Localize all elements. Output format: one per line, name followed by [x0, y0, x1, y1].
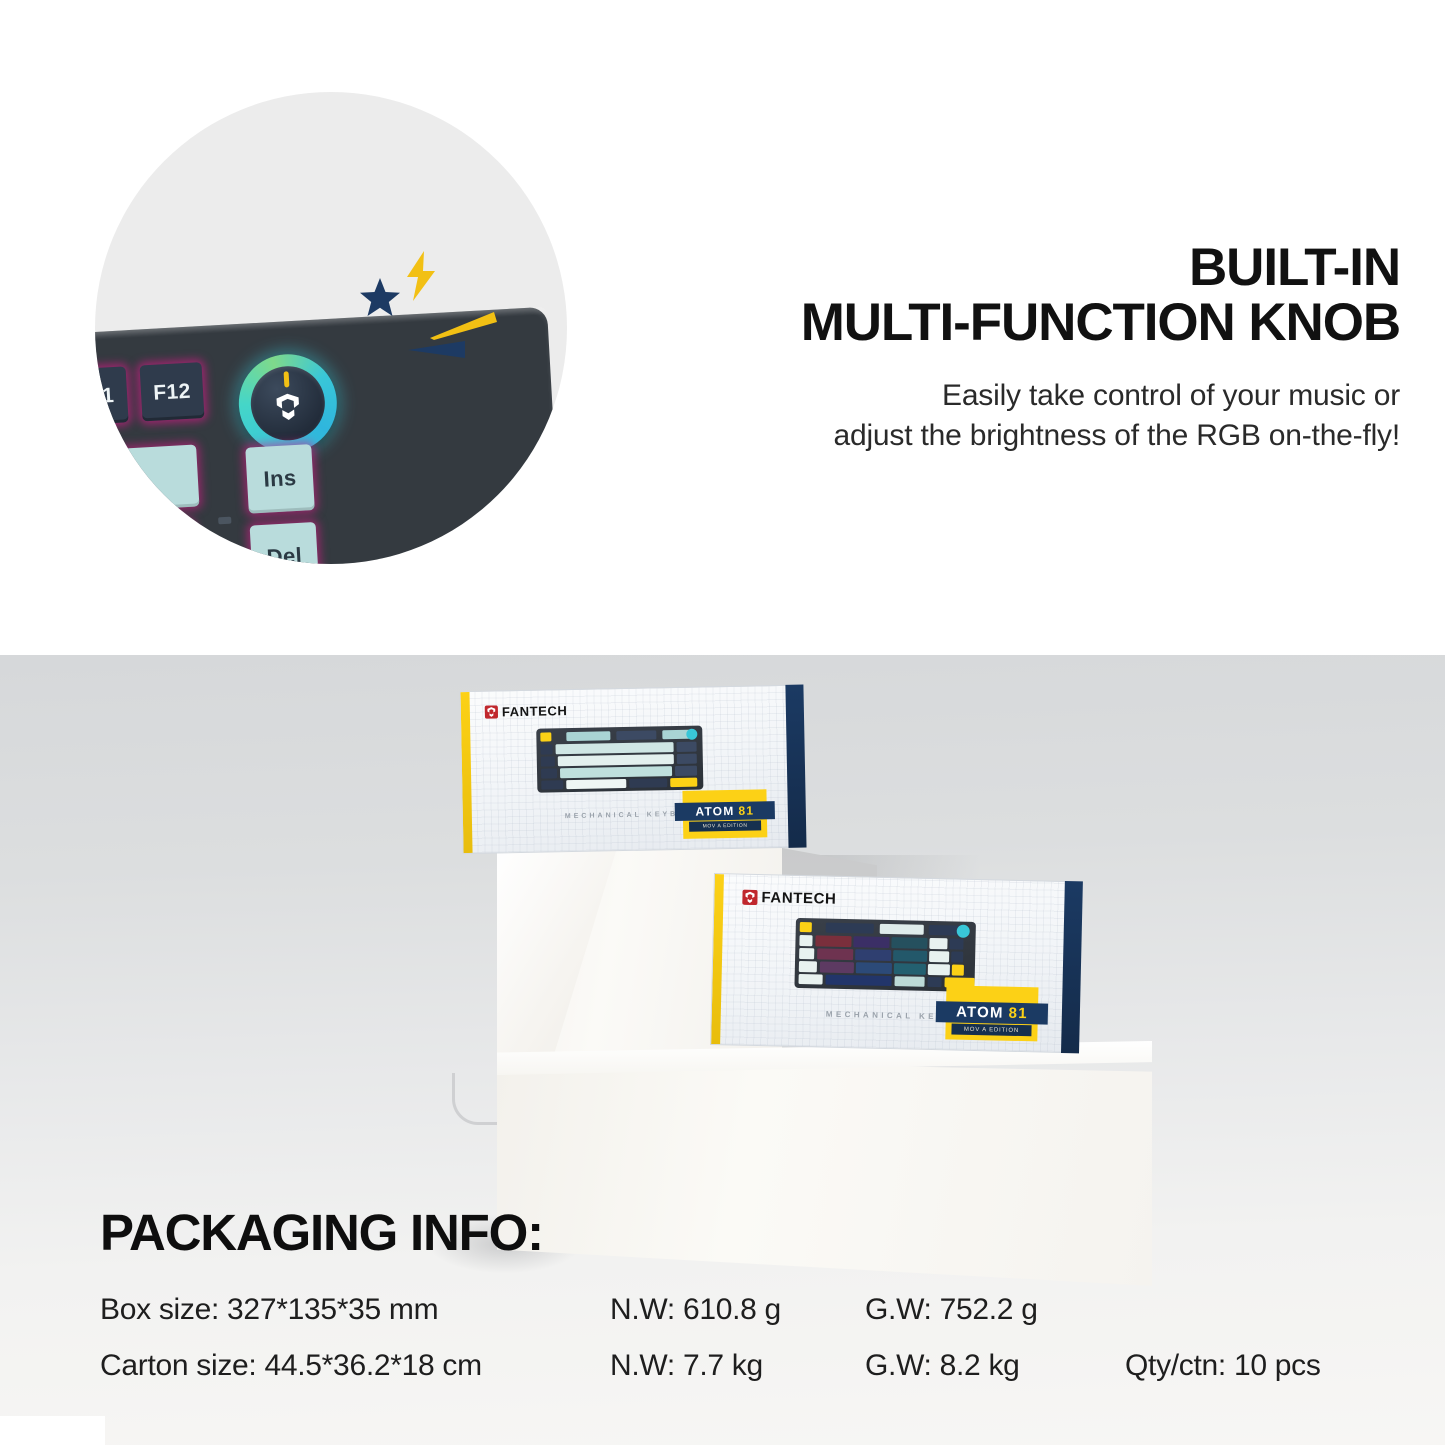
table-row: Carton size: 44.5*36.2*18 cm N.W: 7.7 kg…	[100, 1349, 1390, 1405]
subline-line-2: adjust the brightness of the RGB on-the-…	[700, 416, 1400, 456]
headline-line-2: MULTI-FUNCTION KNOB	[700, 295, 1400, 350]
package-spine-yellow	[460, 692, 472, 853]
package-front-face: FANTECH	[710, 873, 1066, 1053]
package-spine-navy	[1061, 881, 1083, 1053]
keyboard-render-knob	[686, 729, 697, 740]
indicator-led	[220, 553, 233, 561]
product-feature-page: 10 F11 F12	[0, 0, 1445, 1445]
package-spine-yellow	[711, 874, 724, 1044]
packaging-info-block: PACKAGING INFO: Box size: 327*135*35 mm …	[0, 1185, 1445, 1445]
keyboard-render-keys	[794, 918, 976, 992]
model-name: ATOM	[695, 804, 734, 819]
knob-inner	[249, 364, 327, 442]
table-row: Box size: 327*135*35 mm N.W: 610.8 g G.W…	[100, 1293, 1390, 1349]
keycap-label: \ |	[124, 543, 146, 564]
cell-quantity: Qty/ctn: 10 pcs	[1125, 1349, 1385, 1383]
cell-net-weight: N.W: 610.8 g	[610, 1293, 865, 1327]
fantech-mark-icon	[485, 705, 498, 718]
keycap-backspace: ←	[95, 444, 199, 514]
keyboard-render	[536, 726, 703, 793]
brand-logo: FANTECH	[485, 703, 568, 720]
keycap-ins: Ins	[245, 444, 315, 514]
keycap-label: Ins	[263, 467, 297, 491]
star-icon	[357, 275, 403, 321]
package-spine-navy	[785, 685, 806, 848]
cell-size: Box size: 327*135*35 mm	[100, 1293, 610, 1327]
keyboard-closeup-photo: 10 F11 F12	[95, 92, 567, 564]
accent-stroke-yellow-icon	[428, 310, 498, 340]
brand-logo: FANTECH	[742, 889, 836, 908]
subline-line-1: Easily take control of your music or	[700, 376, 1400, 416]
cell-size: Carton size: 44.5*36.2*18 cm	[100, 1349, 610, 1383]
keycap-backslash: \ |	[95, 521, 196, 564]
model-edition: MOV A EDITION	[689, 820, 761, 831]
fantech-mark-icon	[742, 890, 757, 905]
keycap-label: Del	[266, 545, 303, 564]
bottom-white-chip	[0, 1416, 105, 1445]
model-number: 81	[1008, 1005, 1027, 1022]
keyboard-body: 10 F11 F12	[95, 307, 567, 564]
fantech-logo-icon	[270, 389, 306, 425]
feature-text-block: BUILT-IN MULTI-FUNCTION KNOB Easily take…	[700, 240, 1400, 456]
keycap-f11: F11	[95, 366, 129, 425]
packaging-info-title: PACKAGING INFO:	[100, 1203, 543, 1262]
keycap-f12: F12	[139, 362, 204, 421]
model-name: ATOM	[956, 1004, 1004, 1022]
model-badge-bar: ATOM 81	[936, 1001, 1048, 1025]
keycap-label: ←	[108, 465, 137, 493]
package-box-lower: FANTECH	[710, 873, 1066, 1053]
model-badge-bar: ATOM 81	[675, 801, 775, 821]
package-box-upper: FANTECH	[459, 685, 789, 854]
cell-gross-weight: G.W: 752.2 g	[865, 1293, 1125, 1327]
keycap-del: Del	[250, 522, 320, 564]
feature-subline: Easily take control of your music or adj…	[700, 376, 1400, 456]
indicator-led	[218, 517, 231, 525]
cell-net-weight: N.W: 7.7 kg	[610, 1349, 865, 1383]
knob-indicator-tick	[284, 371, 290, 387]
model-badge: ATOM 81 MOV A EDITION	[935, 989, 1048, 1050]
model-badge: ATOM 81 MOV A EDITION	[674, 789, 775, 843]
keyboard-render-keys	[536, 726, 703, 793]
headline-line-1: BUILT-IN	[700, 240, 1400, 295]
multi-function-knob[interactable]	[236, 352, 339, 455]
lightning-bolt-icon	[401, 250, 441, 302]
brand-name: FANTECH	[761, 889, 836, 908]
accent-stroke-navy-icon	[407, 338, 469, 364]
packaging-info-table: Box size: 327*135*35 mm N.W: 610.8 g G.W…	[100, 1293, 1390, 1405]
keycap-label: F12	[153, 380, 192, 403]
knob-feature-section: 10 F11 F12	[0, 0, 1445, 655]
keyboard-render-knob	[957, 925, 970, 938]
model-edition: MOV A EDITION	[951, 1023, 1031, 1036]
model-number: 81	[738, 804, 754, 818]
keycap-label: F11	[95, 385, 115, 408]
keyboard-render	[794, 918, 976, 992]
package-front-face: FANTECH	[459, 685, 789, 854]
cell-gross-weight: G.W: 8.2 kg	[865, 1349, 1125, 1383]
brand-name: FANTECH	[502, 703, 568, 719]
feature-headline: BUILT-IN MULTI-FUNCTION KNOB	[700, 240, 1400, 350]
